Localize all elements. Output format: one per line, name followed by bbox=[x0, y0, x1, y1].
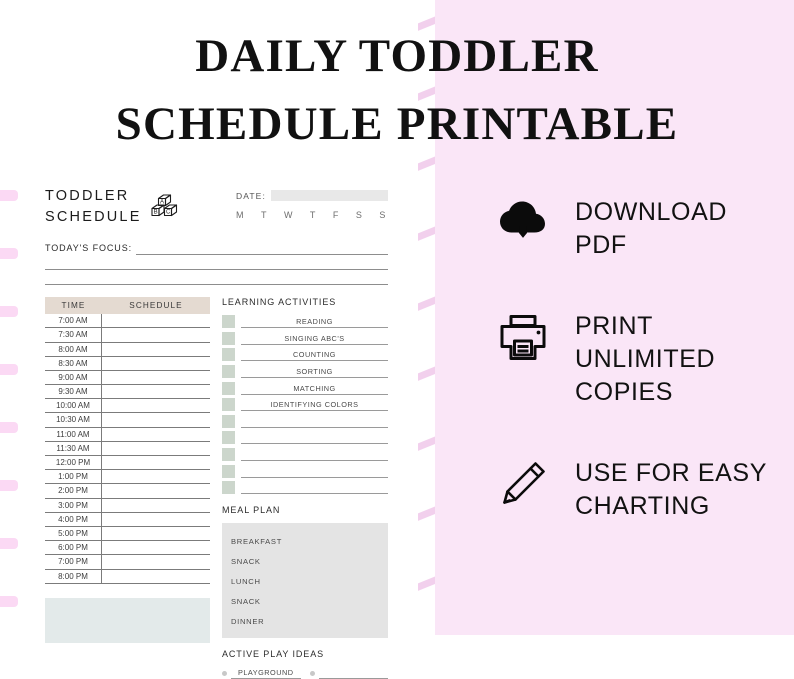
table-row: 8:00 AM bbox=[45, 343, 210, 357]
focus-input-2[interactable] bbox=[45, 255, 388, 270]
printer-icon bbox=[495, 310, 551, 363]
date-input[interactable] bbox=[271, 190, 388, 201]
page-title: DAILY TODDLER SCHEDULE PRINTABLE bbox=[0, 22, 794, 158]
edge-tab bbox=[0, 538, 18, 549]
table-row: 7:30 AM bbox=[45, 328, 210, 342]
meal-plan-item[interactable]: BREAKFAST bbox=[231, 531, 379, 551]
feature-label-charting: USE FOR EASY CHARTING bbox=[575, 457, 775, 523]
title-line-1: DAILY TODDLER bbox=[0, 22, 794, 90]
table-row: 5:00 PM bbox=[45, 527, 210, 541]
learning-activity-label[interactable] bbox=[241, 415, 388, 428]
active-play-section: ACTIVE PLAY IDEAS PLAYGROUND bbox=[222, 649, 388, 679]
active-play-item bbox=[310, 667, 389, 679]
schedule-time-cell: 11:00 AM bbox=[45, 428, 102, 441]
table-row: 8:00 PM bbox=[45, 570, 210, 584]
schedule-time-cell: 10:00 AM bbox=[45, 399, 102, 412]
focus-input-3[interactable] bbox=[45, 270, 388, 285]
schedule-time-cell: 5:00 PM bbox=[45, 527, 102, 540]
learning-activity-label[interactable]: READING bbox=[241, 315, 388, 328]
edge-tab bbox=[0, 596, 18, 607]
edge-tab bbox=[0, 480, 18, 491]
schedule-time-cell: 10:30 AM bbox=[45, 413, 102, 426]
meal-plan-section: MEAL PLAN BREAKFASTSNACKLUNCHSNACKDINNER bbox=[222, 505, 388, 638]
schedule-entry-cell[interactable] bbox=[102, 456, 210, 469]
edge-tab bbox=[0, 306, 18, 317]
bullet-icon bbox=[222, 671, 227, 676]
weekday-5[interactable]: S bbox=[356, 210, 363, 220]
date-label: DATE: bbox=[236, 191, 266, 201]
learning-activity-label[interactable] bbox=[241, 431, 388, 444]
feature-label-download: DOWNLOAD PDF bbox=[575, 196, 775, 262]
list-item bbox=[222, 448, 388, 461]
feature-label-print: PRINT UNLIMITED COPIES bbox=[575, 310, 775, 409]
schedule-time-cell: 4:00 PM bbox=[45, 513, 102, 526]
learning-activity-label[interactable] bbox=[241, 465, 388, 478]
listing-image: DAILY TODDLER SCHEDULE PRINTABLE TODDLER… bbox=[0, 0, 794, 635]
table-row: 10:00 AM bbox=[45, 399, 210, 413]
weekday-0[interactable]: M bbox=[236, 210, 244, 220]
active-play-item: PLAYGROUND bbox=[222, 667, 301, 679]
schedule-entry-cell[interactable] bbox=[102, 499, 210, 512]
table-row: 6:00 PM bbox=[45, 541, 210, 555]
diagonal-stripe bbox=[418, 224, 435, 243]
diagonal-stripe bbox=[418, 504, 435, 523]
schedule-time-cell: 11:30 AM bbox=[45, 442, 102, 455]
checkbox-0[interactable] bbox=[222, 315, 235, 328]
list-item bbox=[222, 465, 388, 478]
learning-activities-title: LEARNING ACTIVITIES bbox=[222, 297, 388, 307]
schedule-time-cell: 2:00 PM bbox=[45, 484, 102, 497]
schedule-entry-cell[interactable] bbox=[102, 428, 210, 441]
table-row: 11:30 AM bbox=[45, 442, 210, 456]
learning-activity-label[interactable]: SORTING bbox=[241, 365, 388, 378]
checkbox-9[interactable] bbox=[222, 465, 235, 478]
pencil-icon bbox=[495, 457, 551, 508]
table-row: 2:00 PM bbox=[45, 484, 210, 498]
table-row: 12:00 PM bbox=[45, 456, 210, 470]
diagonal-stripe bbox=[418, 574, 435, 593]
checkbox-1[interactable] bbox=[222, 332, 235, 345]
schedule-time-cell: 6:00 PM bbox=[45, 541, 102, 554]
active-play-list: PLAYGROUND bbox=[222, 667, 388, 679]
meal-plan-item[interactable]: LUNCH bbox=[231, 571, 379, 591]
schedule-time-cell: 8:00 PM bbox=[45, 570, 102, 583]
schedule-entry-cell[interactable] bbox=[102, 513, 210, 526]
schedule-entry-cell[interactable] bbox=[102, 357, 210, 370]
sheet-columns: TIME SCHEDULE 7:00 AM7:30 AM8:00 AM8:30 … bbox=[45, 297, 388, 679]
feature-list: DOWNLOAD PDF PRINT UNLIMITED COPIES bbox=[495, 196, 775, 571]
checkbox-6[interactable] bbox=[222, 415, 235, 428]
table-row: 4:00 PM bbox=[45, 513, 210, 527]
table-row: 8:30 AM bbox=[45, 357, 210, 371]
svg-text:B: B bbox=[153, 209, 157, 215]
checkbox-2[interactable] bbox=[222, 348, 235, 361]
focus-label: TODAY'S FOCUS: bbox=[45, 243, 132, 255]
list-item: COUNTING bbox=[222, 348, 388, 361]
active-play-label[interactable]: PLAYGROUND bbox=[231, 667, 301, 679]
schedule-entry-cell[interactable] bbox=[102, 570, 210, 583]
schedule-time-cell: 8:30 AM bbox=[45, 357, 102, 370]
date-block: DATE: MTWTFSS bbox=[236, 190, 388, 220]
list-item bbox=[222, 431, 388, 444]
diagonal-stripe bbox=[418, 364, 435, 383]
meal-plan-item[interactable]: SNACK bbox=[231, 591, 379, 611]
schedule-time-cell: 1:00 PM bbox=[45, 470, 102, 483]
edge-tab bbox=[0, 422, 18, 433]
schedule-time-cell: 7:00 AM bbox=[45, 314, 102, 327]
sheet-brand-text: TODDLER SCHEDULE bbox=[45, 186, 142, 227]
checkbox-5[interactable] bbox=[222, 398, 235, 411]
schedule-time-cell: 8:00 AM bbox=[45, 343, 102, 356]
list-item: SINGING ABC'S bbox=[222, 332, 388, 345]
table-row: 1:00 PM bbox=[45, 470, 210, 484]
schedule-entry-cell[interactable] bbox=[102, 343, 210, 356]
schedule-time-cell: 9:00 AM bbox=[45, 371, 102, 384]
schedule-entry-cell[interactable] bbox=[102, 413, 210, 426]
bullet-icon bbox=[310, 671, 315, 676]
schedule-table-header: TIME SCHEDULE bbox=[45, 297, 210, 314]
learning-activity-label[interactable] bbox=[241, 448, 388, 461]
activities-column: LEARNING ACTIVITIES READINGSINGING ABC'S… bbox=[222, 297, 388, 679]
schedule-entry-cell[interactable] bbox=[102, 314, 210, 327]
focus-input-1[interactable] bbox=[136, 243, 388, 255]
feature-download-pdf: DOWNLOAD PDF bbox=[495, 196, 775, 262]
list-item: IDENTIFYING COLORS bbox=[222, 398, 388, 411]
table-row: 7:00 AM bbox=[45, 314, 210, 328]
list-item: READING bbox=[222, 315, 388, 328]
column-header-time: TIME bbox=[45, 301, 102, 310]
table-row: 9:00 AM bbox=[45, 371, 210, 385]
edge-tab bbox=[0, 190, 18, 201]
schedule-entry-cell[interactable] bbox=[102, 399, 210, 412]
learning-activity-label[interactable] bbox=[241, 481, 388, 494]
checkbox-10[interactable] bbox=[222, 481, 235, 494]
weekday-selector[interactable]: MTWTFSS bbox=[236, 210, 388, 220]
schedule-entry-cell[interactable] bbox=[102, 484, 210, 497]
todays-focus-section: TODAY'S FOCUS: bbox=[45, 243, 388, 285]
learning-activity-label[interactable]: COUNTING bbox=[241, 348, 388, 361]
weekday-2[interactable]: W bbox=[284, 210, 293, 220]
meal-plan-item[interactable]: SNACK bbox=[231, 551, 379, 571]
sheet-header: TODDLER SCHEDULE bbox=[45, 186, 388, 227]
list-item bbox=[222, 481, 388, 494]
checkbox-3[interactable] bbox=[222, 365, 235, 378]
schedule-time-cell: 7:30 AM bbox=[45, 328, 102, 341]
schedule-entry-cell[interactable] bbox=[102, 541, 210, 554]
schedule-entry-cell[interactable] bbox=[102, 385, 210, 398]
learning-activity-label[interactable]: MATCHING bbox=[241, 382, 388, 395]
schedule-time-cell: 7:00 PM bbox=[45, 555, 102, 568]
schedule-entry-cell[interactable] bbox=[102, 527, 210, 540]
learning-activity-label[interactable]: IDENTIFYING COLORS bbox=[241, 398, 388, 411]
schedule-column: TIME SCHEDULE 7:00 AM7:30 AM8:00 AM8:30 … bbox=[45, 297, 210, 679]
learning-activities-list: READINGSINGING ABC'SCOUNTINGSORTINGMATCH… bbox=[222, 315, 388, 494]
list-item: MATCHING bbox=[222, 382, 388, 395]
weekday-3[interactable]: T bbox=[310, 210, 316, 220]
printable-sheet-preview: TODDLER SCHEDULE bbox=[45, 186, 388, 635]
brand-line-2: SCHEDULE bbox=[45, 207, 142, 228]
active-play-label[interactable] bbox=[319, 667, 389, 679]
schedule-table-body: 7:00 AM7:30 AM8:00 AM8:30 AM9:00 AM9:30 … bbox=[45, 314, 210, 584]
abc-blocks-icon: A B C bbox=[149, 190, 183, 227]
active-play-title: ACTIVE PLAY IDEAS bbox=[222, 649, 388, 659]
weekday-4[interactable]: F bbox=[333, 210, 339, 220]
svg-text:A: A bbox=[160, 199, 164, 205]
checkbox-4[interactable] bbox=[222, 382, 235, 395]
schedule-entry-cell[interactable] bbox=[102, 442, 210, 455]
list-item: SORTING bbox=[222, 365, 388, 378]
checkbox-8[interactable] bbox=[222, 448, 235, 461]
schedule-time-cell: 3:00 PM bbox=[45, 499, 102, 512]
date-row: DATE: bbox=[236, 190, 388, 201]
meal-plan-item[interactable]: DINNER bbox=[231, 611, 379, 631]
weekday-6[interactable]: S bbox=[379, 210, 386, 220]
focus-row-1: TODAY'S FOCUS: bbox=[45, 243, 388, 255]
table-row: 7:00 PM bbox=[45, 555, 210, 569]
meal-plan-title: MEAL PLAN bbox=[222, 505, 388, 515]
schedule-time-cell: 12:00 PM bbox=[45, 456, 102, 469]
learning-activity-label[interactable]: SINGING ABC'S bbox=[241, 332, 388, 345]
feature-print-unlimited: PRINT UNLIMITED COPIES bbox=[495, 310, 775, 409]
learning-activities-section: LEARNING ACTIVITIES READINGSINGING ABC'S… bbox=[222, 297, 388, 494]
list-item bbox=[222, 415, 388, 428]
weekday-1[interactable]: T bbox=[261, 210, 267, 220]
checkbox-7[interactable] bbox=[222, 431, 235, 444]
table-row: 3:00 PM bbox=[45, 499, 210, 513]
cloud-download-icon bbox=[495, 196, 551, 245]
feature-easy-charting: USE FOR EASY CHARTING bbox=[495, 457, 775, 523]
table-row: 11:00 AM bbox=[45, 428, 210, 442]
table-row: 9:30 AM bbox=[45, 385, 210, 399]
edge-tab bbox=[0, 364, 18, 375]
notes-box[interactable] bbox=[45, 598, 210, 643]
meal-plan-box: BREAKFASTSNACKLUNCHSNACKDINNER bbox=[222, 523, 388, 638]
title-line-2: SCHEDULE PRINTABLE bbox=[0, 90, 794, 158]
schedule-entry-cell[interactable] bbox=[102, 328, 210, 341]
schedule-entry-cell[interactable] bbox=[102, 555, 210, 568]
table-row: 10:30 AM bbox=[45, 413, 210, 427]
svg-text:C: C bbox=[166, 209, 171, 215]
schedule-entry-cell[interactable] bbox=[102, 470, 210, 483]
schedule-time-cell: 9:30 AM bbox=[45, 385, 102, 398]
brand-line-1: TODDLER bbox=[45, 186, 142, 207]
column-header-schedule: SCHEDULE bbox=[102, 301, 210, 310]
diagonal-stripe bbox=[418, 294, 435, 313]
diagonal-stripe bbox=[418, 434, 435, 453]
sheet-brand: TODDLER SCHEDULE bbox=[45, 186, 183, 227]
schedule-entry-cell[interactable] bbox=[102, 371, 210, 384]
edge-tab bbox=[0, 248, 18, 259]
